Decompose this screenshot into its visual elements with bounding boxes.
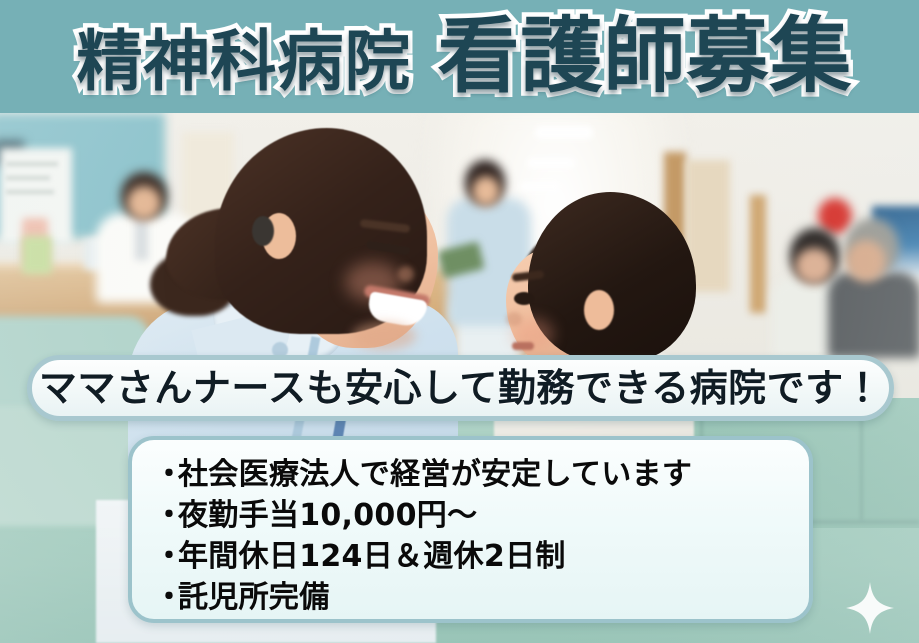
bullet-marker-icon: ・ bbox=[154, 583, 178, 613]
bullet-marker-icon: ・ bbox=[154, 460, 178, 490]
list-item: ・ 社会医療法人で経営が安定しています bbox=[154, 454, 809, 495]
photo-child-eye bbox=[514, 292, 534, 305]
benefits-panel: ・ 社会医療法人で経営が安定しています ・ 夜勤手当10,000円～ ・ 年間休… bbox=[128, 436, 813, 623]
bullet-marker-icon: ・ bbox=[154, 542, 178, 572]
photo-nurse-chin bbox=[352, 322, 416, 350]
photo-ceiling-lamp bbox=[527, 158, 575, 168]
page-title-part-1: 精神科病院 bbox=[76, 29, 411, 95]
list-item-label: 託児所完備 bbox=[178, 583, 330, 613]
photo-background-nurse-face bbox=[472, 176, 500, 206]
list-item: ・ 年間休日124日＆週休2日制 bbox=[154, 536, 809, 577]
photo-ceiling-lamp bbox=[520, 182, 560, 191]
headline-banner-text: ママさんナースも安心して勤務できる病院です！ bbox=[39, 369, 882, 407]
photo-child-nose bbox=[506, 312, 522, 326]
photo-ceiling-lamp bbox=[535, 126, 593, 139]
headline-banner: ママさんナースも安心して勤務できる病院です！ bbox=[27, 355, 894, 421]
photo-patient-face bbox=[846, 240, 886, 282]
page-title-part-2: 看護師募集 bbox=[437, 16, 852, 98]
list-item-label: 年間休日124日＆週休2日制 bbox=[178, 542, 566, 572]
list-item-label: 社会医療法人で経営が安定しています bbox=[178, 460, 692, 490]
list-item-label: 夜勤手当10,000円～ bbox=[178, 501, 477, 531]
photo-nurse-ear-clip bbox=[252, 216, 274, 246]
photo-door bbox=[750, 195, 766, 313]
list-item: ・ 託児所完備 bbox=[154, 577, 809, 618]
list-item: ・ 夜勤手当10,000円～ bbox=[154, 495, 809, 536]
header-bar: 精神科病院 看護師募集 bbox=[0, 0, 919, 113]
poster-root: 精神科病院 看護師募集 ママさんナースも安心して勤務できる病院です！ ・ 社会医… bbox=[0, 0, 919, 643]
photo-nurse-nose bbox=[398, 266, 414, 282]
photo-notice-line bbox=[6, 176, 50, 180]
photo-notice-line bbox=[6, 190, 54, 194]
photo-male-staff-tie bbox=[135, 216, 148, 260]
photo-notice-line bbox=[6, 162, 58, 166]
page-title: 精神科病院 看護師募集 bbox=[66, 16, 852, 98]
photo-child-ear bbox=[584, 290, 614, 330]
photo-child-mouth bbox=[512, 342, 534, 350]
photo-patient-face bbox=[795, 248, 833, 284]
photo-male-staff-face bbox=[127, 186, 161, 220]
photo-patient-body bbox=[828, 272, 919, 358]
photo-counter-item bbox=[22, 236, 52, 274]
bullet-marker-icon: ・ bbox=[154, 501, 178, 531]
